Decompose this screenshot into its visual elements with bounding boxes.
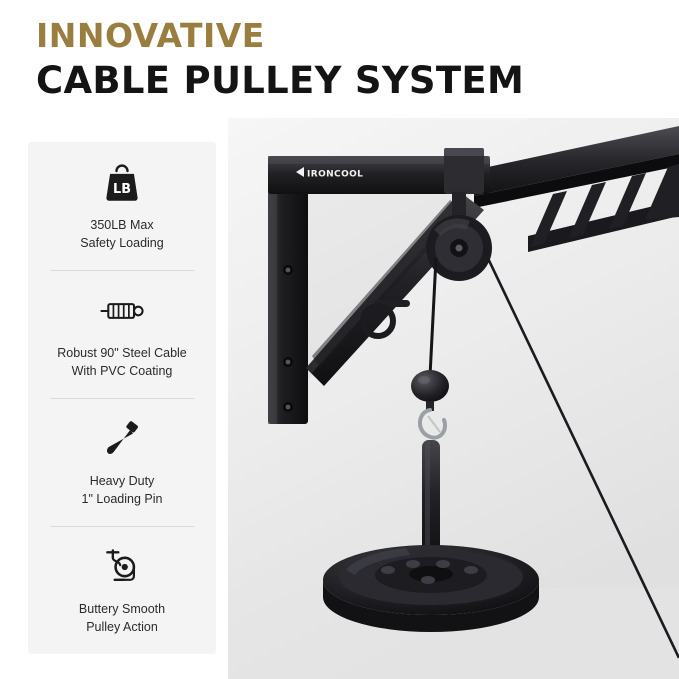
feature-list: LB 350LB Max Safety Loading Robust 90" S… <box>28 142 216 654</box>
page-title: INNOVATIVE CABLE PULLEY SYSTEM <box>36 18 656 103</box>
list-item: Buttery Smooth Pulley Action <box>28 526 216 654</box>
list-item-line1: Buttery Smooth <box>79 602 165 616</box>
list-item-line2: Safety Loading <box>80 234 163 252</box>
list-item-line2: With PVC Coating <box>57 362 187 380</box>
list-item-line2: Pulley Action <box>79 618 165 636</box>
list-item: LB 350LB Max Safety Loading <box>28 142 216 270</box>
headline-accent-line: INNOVATIVE <box>36 18 656 54</box>
product-photo: IRONCOOL <box>228 118 679 679</box>
list-item: Heavy Duty 1" Loading Pin <box>28 398 216 526</box>
list-item-text: Heavy Duty 1" Loading Pin <box>82 472 163 508</box>
list-item-line1: 350LB Max <box>90 218 153 232</box>
list-item: Robust 90" Steel Cable With PVC Coating <box>28 270 216 398</box>
svg-text:IRONCOOL: IRONCOOL <box>307 170 363 180</box>
pulley-wheel-icon <box>100 544 144 590</box>
list-item-text: Buttery Smooth Pulley Action <box>79 600 165 636</box>
list-item-line1: Heavy Duty <box>90 474 155 488</box>
list-item-line2: 1" Loading Pin <box>82 490 163 508</box>
list-item-text: 350LB Max Safety Loading <box>80 216 163 252</box>
weight-lb-icon: LB <box>100 160 144 206</box>
steel-cable-icon <box>98 288 146 334</box>
list-item-line1: Robust 90" Steel Cable <box>57 346 187 360</box>
loading-pin-icon <box>100 416 144 462</box>
svg-text:LB: LB <box>113 182 131 197</box>
list-item-text: Robust 90" Steel Cable With PVC Coating <box>57 344 187 380</box>
headline-main-line: CABLE PULLEY SYSTEM <box>36 60 656 103</box>
